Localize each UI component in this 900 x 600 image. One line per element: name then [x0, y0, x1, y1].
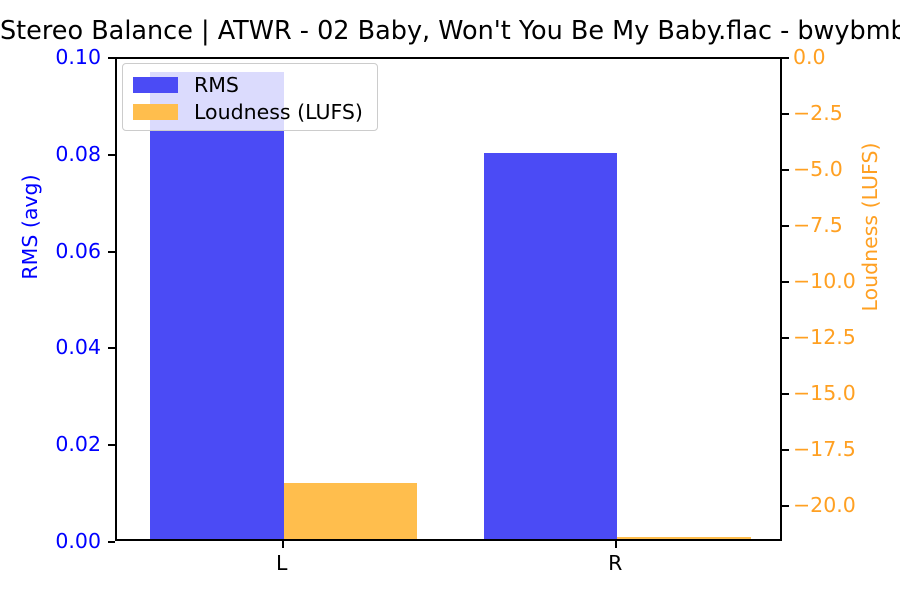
right-tick-label: 0.0 [793, 45, 900, 69]
right-tick-mark [782, 113, 789, 115]
left-tick-mark [108, 57, 115, 59]
left-tick-label: 0.10 [0, 45, 101, 69]
right-tick-label: −2.5 [793, 101, 900, 125]
left-tick-mark [108, 347, 115, 349]
right-tick-label: −20.0 [793, 493, 900, 517]
bar-rms-r [484, 153, 617, 539]
right-tick-label: −17.5 [793, 437, 900, 461]
right-tick-mark [782, 281, 789, 283]
legend-swatch-rms-icon [133, 77, 178, 93]
right-tick-label: −5.0 [793, 157, 900, 181]
right-tick-mark [782, 337, 789, 339]
left-tick-mark [108, 444, 115, 446]
figure-canvas: Stereo Balance | ATWR - 02 Baby, Won't Y… [0, 0, 900, 600]
legend-swatch-loudness-icon [133, 104, 178, 120]
bar-loudness-r [617, 537, 750, 539]
left-tick-mark [108, 251, 115, 253]
chart-legend[interactable]: RMS Loudness (LUFS) [122, 63, 378, 131]
right-tick-mark [782, 449, 789, 451]
x-tick-mark [615, 541, 617, 548]
left-tick-label: 0.04 [0, 335, 101, 359]
left-tick-label: 0.00 [0, 529, 101, 553]
left-axis-title: RMS (avg) [18, 142, 42, 312]
right-tick-mark [782, 505, 789, 507]
left-tick-mark [108, 154, 115, 156]
x-tick-mark [282, 541, 284, 548]
right-tick-label: −15.0 [793, 381, 900, 405]
right-tick-mark [782, 393, 789, 395]
bar-loudness-l [284, 483, 417, 539]
right-axis-title: Loudness (LUFS) [858, 112, 882, 342]
legend-label-loudness: Loudness (LUFS) [194, 100, 363, 124]
left-tick-label: 0.08 [0, 142, 101, 166]
legend-label-rms: RMS [194, 73, 239, 97]
chart-title: Stereo Balance | ATWR - 02 Baby, Won't Y… [0, 16, 900, 46]
bar-rms-l [150, 72, 283, 539]
legend-item-loudness[interactable]: Loudness (LUFS) [133, 98, 367, 125]
right-tick-mark [782, 169, 789, 171]
right-tick-label: −10.0 [793, 269, 900, 293]
x-tick-label-r: R [585, 551, 645, 575]
left-tick-label: 0.06 [0, 239, 101, 263]
right-tick-label: −12.5 [793, 325, 900, 349]
right-tick-mark [782, 225, 789, 227]
legend-item-rms[interactable]: RMS [133, 71, 367, 98]
left-tick-mark [108, 541, 115, 543]
right-tick-label: −7.5 [793, 213, 900, 237]
right-tick-mark [782, 57, 789, 59]
x-tick-label-l: L [252, 551, 312, 575]
left-tick-label: 0.02 [0, 432, 101, 456]
